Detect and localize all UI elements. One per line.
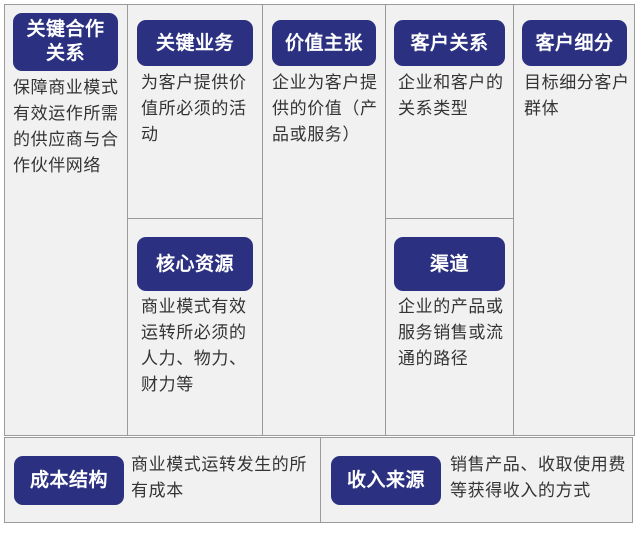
description-key-resources: 商业模式有效运转所必须的人力、物力、财力等 xyxy=(141,294,253,398)
badge-channels: 渠道 xyxy=(394,237,505,291)
business-model-canvas-diagram: 关键合作 关系 关键业务 价值主张 客户关系 客户细分 核心资源 渠道 成本结构… xyxy=(0,0,640,536)
badge-revenue-streams: 收入来源 xyxy=(331,456,441,505)
description-channels: 企业的产品或服务销售或流通的路径 xyxy=(398,294,510,372)
description-customer-segments: 目标细分客户群体 xyxy=(524,70,632,122)
description-revenue-streams: 销售产品、收取使用费等获得收入的方式 xyxy=(450,452,635,504)
badge-customer-relationships: 客户关系 xyxy=(394,20,505,66)
badge-value-proposition: 价值主张 xyxy=(272,20,376,66)
cell-value-proposition xyxy=(262,4,386,436)
badge-customer-segments: 客户细分 xyxy=(522,20,627,66)
description-key-partners: 保障商业模式有效运作所需的供应商与合作伙伴网络 xyxy=(13,75,121,179)
description-cost-structure: 商业模式运转发生的所有成本 xyxy=(131,452,321,504)
cell-customer-segments xyxy=(513,4,635,436)
badge-key-resources: 核心资源 xyxy=(137,237,253,291)
badge-key-partners: 关键合作 关系 xyxy=(13,13,118,71)
badge-cost-structure: 成本结构 xyxy=(14,456,124,505)
description-value-proposition: 企业为客户提供的价值（产品或服务） xyxy=(272,70,380,148)
badge-key-activities: 关键业务 xyxy=(137,20,253,66)
description-customer-relationships: 企业和客户的关系类型 xyxy=(398,70,510,122)
description-key-activities: 为客户提供价值所必须的活动 xyxy=(141,70,253,148)
